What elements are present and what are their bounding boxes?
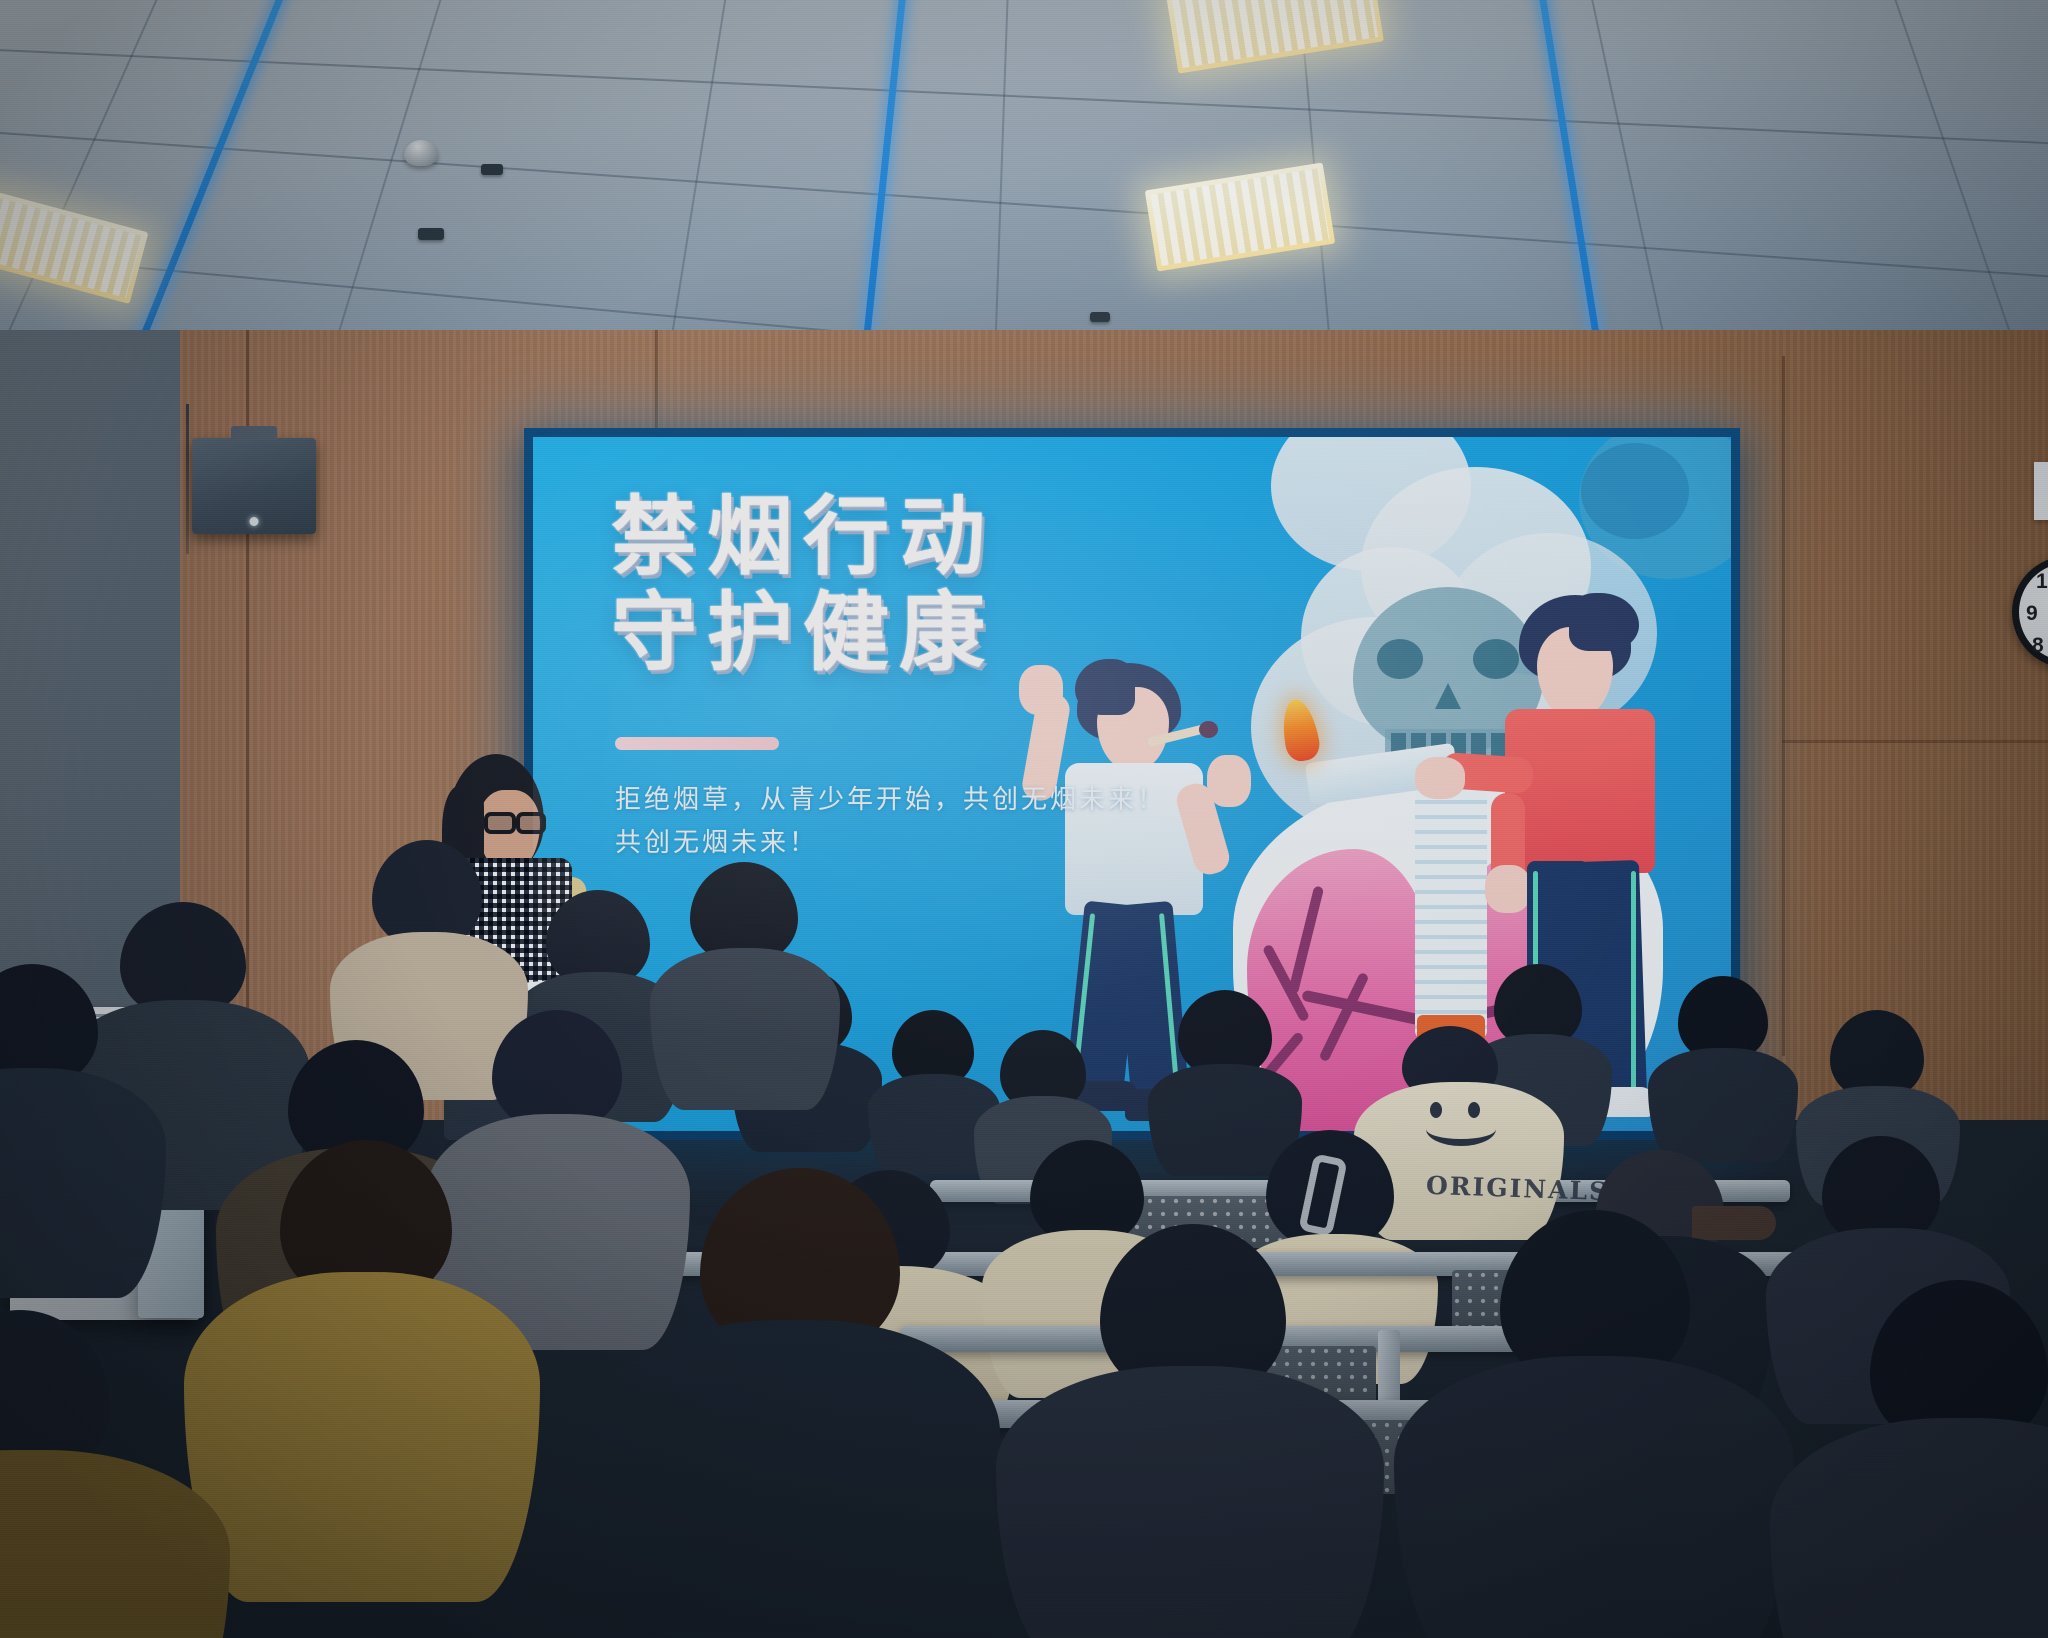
slide-title-line-2: 守护健康 xyxy=(611,585,995,681)
auditorium-photo: 10 9 8 xyxy=(0,0,2048,1638)
background-blob xyxy=(1581,443,1689,539)
cigarette-tip xyxy=(1199,721,1218,738)
wall-notice-right xyxy=(2034,462,2048,520)
lowered-hand xyxy=(1485,865,1531,913)
open-hand xyxy=(1207,755,1251,807)
clock-number-10: 10 xyxy=(2036,570,2048,594)
smiley-face-icon xyxy=(1414,1098,1514,1158)
clock-number-9: 9 xyxy=(2026,602,2038,626)
ceiling-panel-light xyxy=(1164,0,1384,74)
ceiling-panel-light xyxy=(1145,162,1336,271)
slide-subtitle-line-2: 共创无烟未来！ xyxy=(615,822,1166,865)
reaching-hand xyxy=(1415,757,1465,799)
eyeglasses-icon xyxy=(516,812,546,834)
cap-brim xyxy=(1692,1206,1776,1240)
ceiling-sensor-icon xyxy=(481,164,503,175)
audience-area: ORIGINALS xyxy=(0,980,2048,1638)
smoke-detector-icon xyxy=(404,140,438,166)
red-tshirt xyxy=(1505,709,1655,873)
slide-title: 禁烟行动 守护健康 xyxy=(611,489,995,682)
slide-divider-rule xyxy=(615,737,779,750)
slide-subtitle: 拒绝烟草，从青少年开始，共创无烟未来！ 共创无烟未来！ xyxy=(615,779,1166,865)
clock-number-8: 8 xyxy=(2032,634,2044,658)
ceiling-panel-light xyxy=(0,186,149,304)
slide-title-line-1: 禁烟行动 xyxy=(611,489,995,585)
slide-subtitle-line-1: 拒绝烟草，从青少年开始，共创无烟未来！ xyxy=(615,779,1166,822)
speaker-cable xyxy=(186,404,189,554)
ceiling-sensor-icon xyxy=(1090,312,1110,322)
eyeglasses-icon xyxy=(484,812,516,834)
raised-hand xyxy=(1019,665,1063,715)
wall-speaker xyxy=(192,438,316,534)
ceiling-sensor-icon xyxy=(418,228,444,240)
